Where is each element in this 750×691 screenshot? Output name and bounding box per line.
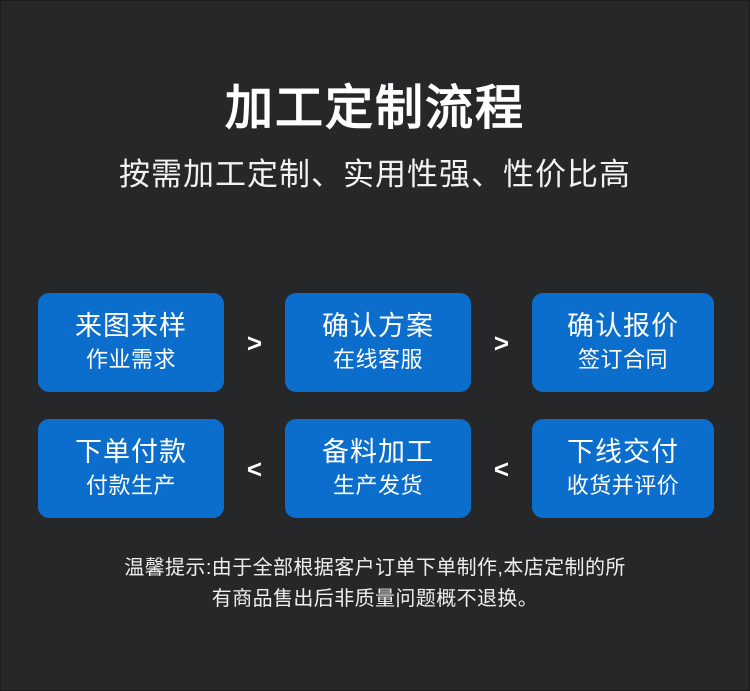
arrow-left-icon-2: < bbox=[471, 456, 532, 482]
process-flow-row-2: 下单付款 付款生产 < 备料加工 生产发货 < 下线交付 收货并评价 bbox=[38, 419, 714, 518]
arrow-right-icon-2: > bbox=[471, 330, 532, 356]
process-flow-row-1: 来图来样 作业需求 > 确认方案 在线客服 > 确认报价 签订合同 bbox=[38, 293, 714, 392]
arrow-left-icon-1: < bbox=[224, 456, 285, 482]
flow-step-2-subtitle: 在线客服 bbox=[333, 346, 423, 375]
flow-step-1[interactable]: 来图来样 作业需求 bbox=[38, 293, 224, 392]
arrow-right-icon-1: > bbox=[224, 330, 285, 356]
page-subtitle: 按需加工定制、实用性强、性价比高 bbox=[1, 138, 749, 195]
promo-poster: 加工定制流程 按需加工定制、实用性强、性价比高 来图来样 作业需求 > 确认方案… bbox=[0, 0, 750, 691]
flow-step-5-title: 备料加工 bbox=[322, 437, 434, 469]
flow-step-1-subtitle: 作业需求 bbox=[86, 346, 176, 375]
flow-step-3-subtitle: 签订合同 bbox=[578, 346, 668, 375]
flow-step-3-title: 确认报价 bbox=[567, 311, 679, 343]
flow-step-2[interactable]: 确认方案 在线客服 bbox=[285, 293, 471, 392]
flow-step-3[interactable]: 确认报价 签订合同 bbox=[532, 293, 714, 392]
poster-header: 加工定制流程 按需加工定制、实用性强、性价比高 bbox=[1, 1, 749, 194]
disclaimer-note-line-2: 有商品售出后非质量问题概不退换。 bbox=[1, 584, 749, 615]
flow-step-5-subtitle: 生产发货 bbox=[333, 472, 423, 501]
disclaimer-note: 温馨提示:由于全部根据客户订单下单制作,本店定制的所 有商品售出后非质量问题概不… bbox=[1, 553, 749, 615]
disclaimer-note-line-1: 温馨提示:由于全部根据客户订单下单制作,本店定制的所 bbox=[1, 553, 749, 584]
flow-step-6[interactable]: 下单付款 付款生产 bbox=[38, 419, 224, 518]
flow-step-1-title: 来图来样 bbox=[75, 311, 187, 343]
flow-step-4-subtitle: 收货并评价 bbox=[567, 472, 680, 501]
flow-step-4-title: 下线交付 bbox=[567, 437, 679, 469]
flow-step-5[interactable]: 备料加工 生产发货 bbox=[285, 419, 471, 518]
flow-step-6-title: 下单付款 bbox=[75, 437, 187, 469]
flow-step-6-subtitle: 付款生产 bbox=[86, 472, 176, 501]
flow-step-2-title: 确认方案 bbox=[322, 311, 434, 343]
flow-step-4[interactable]: 下线交付 收货并评价 bbox=[532, 419, 714, 518]
page-title: 加工定制流程 bbox=[1, 1, 749, 138]
